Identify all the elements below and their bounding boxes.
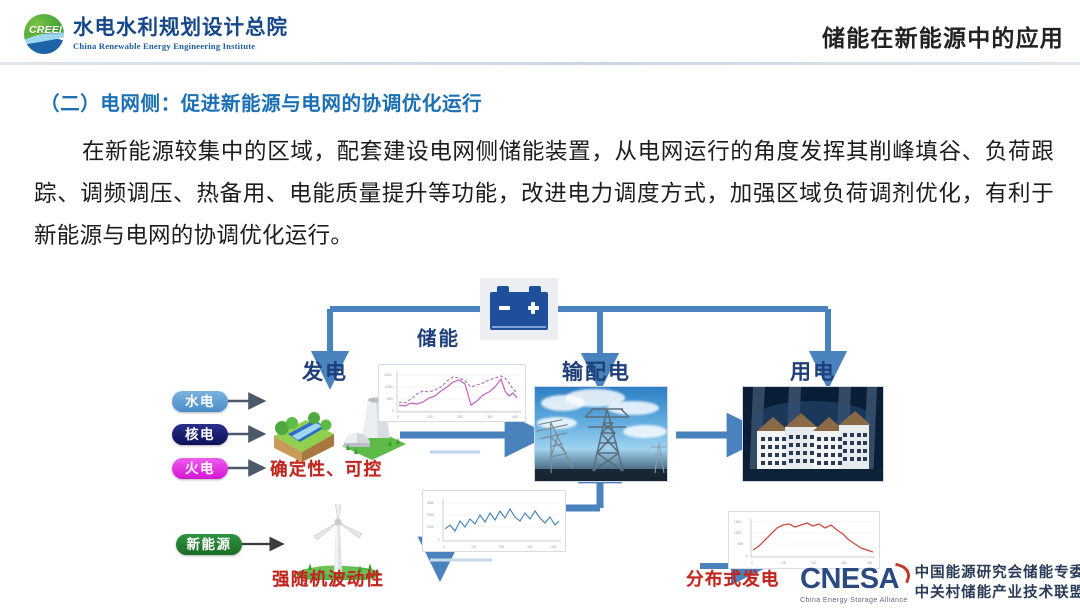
- svg-text:100: 100: [781, 561, 787, 565]
- svg-text:300: 300: [527, 545, 533, 549]
- svg-text:100: 100: [471, 545, 477, 549]
- svg-text:1500: 1500: [734, 520, 741, 524]
- creei-badge-text: CREEI: [29, 24, 61, 36]
- cnesa-subtitle: China Energy Storage Alliance: [800, 595, 908, 604]
- svg-text:300: 300: [487, 415, 493, 419]
- svg-text:500: 500: [738, 542, 744, 546]
- svg-text:400: 400: [551, 545, 557, 549]
- svg-text:500: 500: [387, 397, 393, 401]
- cnesa-cn-line2: 中关村储能产业技术联盟: [915, 584, 1080, 604]
- source-pill-hydro: 水电: [172, 391, 228, 412]
- svg-text:2000: 2000: [427, 513, 434, 517]
- svg-text:1000: 1000: [427, 525, 434, 529]
- svg-text:0: 0: [392, 409, 394, 413]
- note-distributed-generation: 分布式发电: [686, 566, 780, 591]
- svg-text:200: 200: [457, 415, 463, 419]
- residential-buildings-photo: [742, 386, 884, 482]
- stage-label-transmission: 输配电: [562, 356, 631, 386]
- svg-text:0: 0: [443, 545, 445, 549]
- distributed-generation-chart: 15001000 5000 0100200 300400: [728, 511, 880, 569]
- battery-icon: [480, 278, 558, 340]
- svg-text:0: 0: [746, 554, 748, 558]
- svg-text:0: 0: [438, 538, 440, 542]
- creei-logo: CREEI 水电水利规划设计总院 China Renewable Energy …: [24, 14, 288, 54]
- svg-text:1400: 1400: [384, 373, 392, 377]
- creei-logo-mark: CREEI: [24, 14, 64, 54]
- page-title: 储能在新能源中的应用: [822, 19, 1064, 53]
- wind-output-chart: 30002000 10000 0100200 300400: [422, 490, 566, 552]
- svg-text:1000: 1000: [734, 531, 741, 535]
- org-name-en: China Renewable Energy Engineering Insti…: [73, 41, 288, 51]
- cnesa-logo: CNESA China Energy Storage Alliance 中国能源…: [800, 562, 1072, 606]
- note-deterministic-controllable: 确定性、可控: [270, 456, 382, 481]
- svg-text:100: 100: [427, 415, 433, 419]
- stage-label-consumption: 用电: [790, 356, 836, 386]
- creei-logo-text: 水电水利规划设计总院 China Renewable Energy Engine…: [73, 17, 288, 51]
- cnesa-cn-line1: 中国能源研究会储能专委会: [915, 564, 1080, 584]
- source-pill-nuclear: 核电: [172, 424, 228, 445]
- cnesa-wordmark: CNESA: [800, 565, 908, 594]
- svg-text:1000: 1000: [385, 385, 393, 389]
- org-name-cn: 水电水利规划设计总院: [73, 17, 288, 40]
- energy-storage-flow-diagram: 储能 发电 输配电 用电 水电 核电 火电 新能源: [0, 268, 1080, 608]
- transmission-tower-photo: [534, 386, 668, 482]
- note-strong-volatility: 强随机波动性: [272, 566, 384, 591]
- header-divider: [0, 62, 1080, 65]
- svg-text:400: 400: [512, 415, 518, 419]
- section-heading: （二）电网侧：促进新能源与电网的协调优化运行: [40, 87, 482, 116]
- svg-text:3000: 3000: [427, 501, 434, 505]
- cnesa-cn-text: 中国能源研究会储能专委会 中关村储能产业技术联盟: [915, 564, 1080, 603]
- stage-label-generation: 发电: [302, 356, 348, 386]
- generation-output-chart: 14001000 5000 0100 200300400: [378, 364, 526, 422]
- source-pill-thermal: 火电: [172, 458, 228, 479]
- svg-text:0: 0: [751, 561, 753, 565]
- section-paragraph: 在新能源较集中的区域，配套建设电网侧储能装置，从电网运行的角度发挥其削峰填谷、负…: [34, 131, 1054, 257]
- source-pill-new-energy: 新能源: [176, 534, 242, 555]
- storage-label: 储能: [417, 322, 460, 351]
- cnesa-wordmark-group: CNESA China Energy Storage Alliance: [800, 565, 908, 604]
- page-header: CREEI 水电水利规划设计总院 China Renewable Energy …: [0, 0, 1080, 63]
- svg-text:200: 200: [499, 545, 505, 549]
- svg-text:0: 0: [397, 415, 399, 419]
